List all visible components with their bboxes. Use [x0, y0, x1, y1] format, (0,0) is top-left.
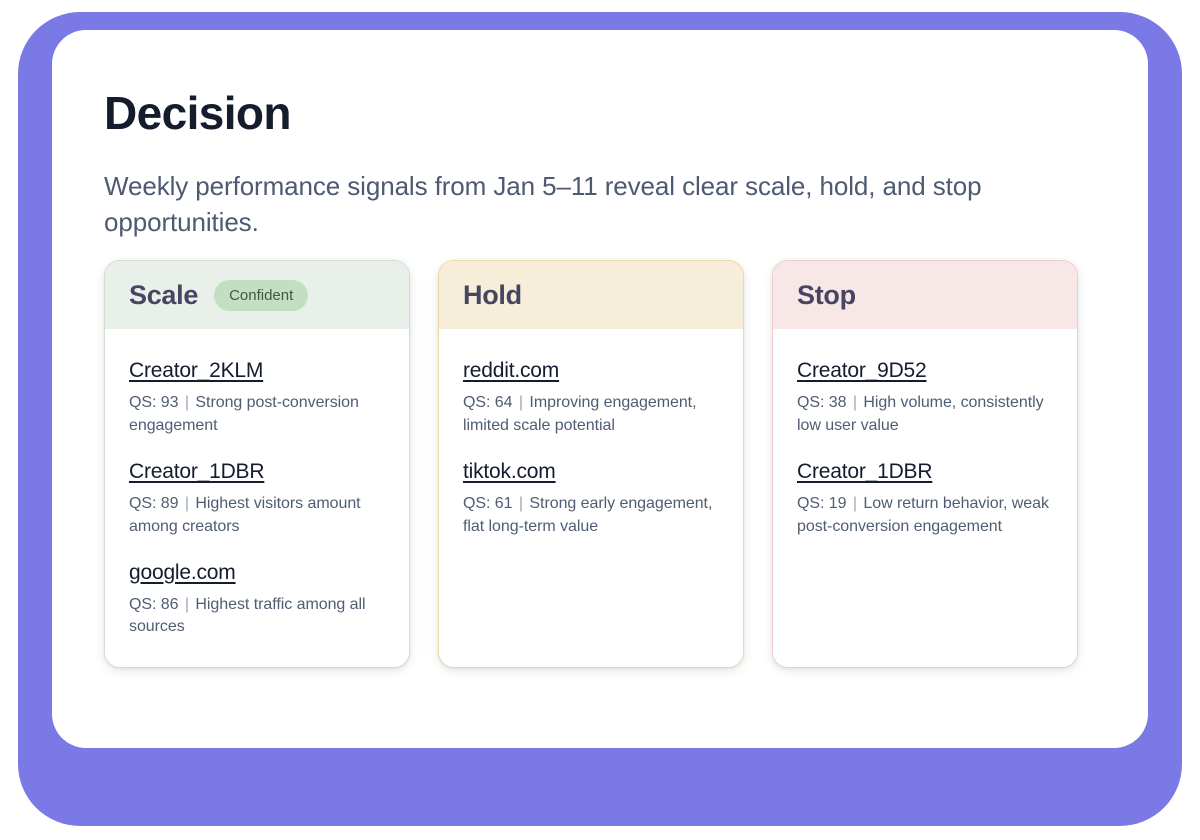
entry-name-link[interactable]: Creator_1DBR [129, 460, 264, 484]
card-title-scale: Scale [129, 280, 198, 311]
screen-root: Decision Weekly performance signals from… [0, 0, 1200, 840]
quality-score: QS: 38 [797, 394, 847, 411]
entry-description: QS: 93 | Strong post-conversion engageme… [129, 392, 385, 438]
card-body-scale: Creator_2KLMQS: 93 | Strong post-convers… [105, 329, 409, 667]
list-item: Creator_2KLMQS: 93 | Strong post-convers… [129, 359, 385, 438]
separator-glyph: | [179, 596, 196, 613]
status-badge-scale: Confident [214, 280, 308, 311]
list-item: google.comQS: 86 | Highest traffic among… [129, 561, 385, 640]
entry-description: QS: 61 | Strong early engagement, flat l… [463, 493, 719, 539]
quality-score: QS: 89 [129, 495, 179, 512]
list-item: Creator_1DBRQS: 89 | Highest visitors am… [129, 460, 385, 539]
card-header-hold: Hold [439, 261, 743, 329]
list-item: Creator_1DBRQS: 19 | Low return behavior… [797, 460, 1053, 539]
separator-glyph: | [179, 394, 196, 411]
panel-header-block: Decision Weekly performance signals from… [104, 88, 1096, 240]
entry-description: QS: 64 | Improving engagement, limited s… [463, 392, 719, 438]
entry-name-link[interactable]: Creator_2KLM [129, 359, 263, 383]
entry-name-link[interactable]: google.com [129, 561, 236, 585]
list-item: reddit.comQS: 64 | Improving engagement,… [463, 359, 719, 438]
card-header-scale: ScaleConfident [105, 261, 409, 329]
separator-glyph: | [847, 495, 864, 512]
card-title-hold: Hold [463, 280, 522, 311]
quality-score: QS: 64 [463, 394, 513, 411]
decision-card-scale: ScaleConfidentCreator_2KLMQS: 93 | Stron… [104, 260, 410, 668]
card-title-stop: Stop [797, 280, 856, 311]
decision-panel: Decision Weekly performance signals from… [52, 30, 1148, 748]
entry-name-link[interactable]: Creator_1DBR [797, 460, 932, 484]
card-header-stop: Stop [773, 261, 1077, 329]
decision-cards-row: ScaleConfidentCreator_2KLMQS: 93 | Stron… [104, 260, 1078, 668]
separator-glyph: | [513, 394, 530, 411]
list-item: tiktok.comQS: 61 | Strong early engageme… [463, 460, 719, 539]
quality-score: QS: 19 [797, 495, 847, 512]
decision-card-stop: StopCreator_9D52QS: 38 | High volume, co… [772, 260, 1078, 668]
quality-score: QS: 86 [129, 596, 179, 613]
list-item: Creator_9D52QS: 38 | High volume, consis… [797, 359, 1053, 438]
quality-score: QS: 61 [463, 495, 513, 512]
card-body-stop: Creator_9D52QS: 38 | High volume, consis… [773, 329, 1077, 667]
entry-name-link[interactable]: Creator_9D52 [797, 359, 927, 383]
entry-name-link[interactable]: tiktok.com [463, 460, 556, 484]
entry-description: QS: 38 | High volume, consistently low u… [797, 392, 1053, 438]
entry-description: QS: 86 | Highest traffic among all sourc… [129, 594, 385, 640]
decision-card-hold: Holdreddit.comQS: 64 | Improving engagem… [438, 260, 744, 668]
separator-glyph: | [513, 495, 530, 512]
card-body-hold: reddit.comQS: 64 | Improving engagement,… [439, 329, 743, 667]
separator-glyph: | [179, 495, 196, 512]
entry-name-link[interactable]: reddit.com [463, 359, 559, 383]
page-title: Decision [104, 88, 1096, 140]
entry-description: QS: 19 | Low return behavior, weak post-… [797, 493, 1053, 539]
entry-description: QS: 89 | Highest visitors amount among c… [129, 493, 385, 539]
quality-score: QS: 93 [129, 394, 179, 411]
page-subtitle: Weekly performance signals from Jan 5–11… [104, 168, 1064, 241]
separator-glyph: | [847, 394, 864, 411]
